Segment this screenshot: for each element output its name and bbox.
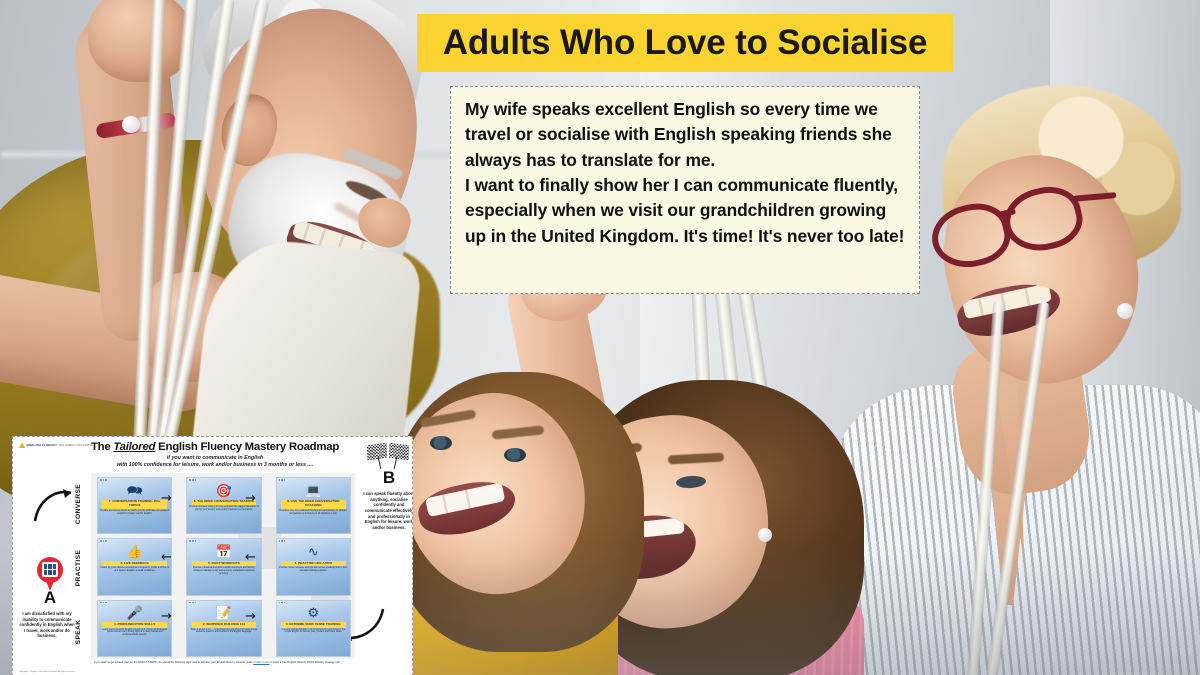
card-note: Real time, live 1-to-1 tailored developm… [278, 510, 348, 516]
roadmap-card[interactable]: 👍 6. LIVE FEEDBACK Instant pin-point div… [97, 538, 172, 595]
roadmap-title-prefix: The [91, 441, 113, 453]
roadmap-card[interactable]: 📅 5. DAILY WORKOUTS Practise, rehearsal … [186, 538, 261, 595]
card-note: Precision focused training to hone and t… [189, 506, 259, 512]
curved-arrow-up-icon [31, 481, 79, 525]
window-dots-icon [189, 602, 196, 604]
flow-arrow-left-icon: ← [161, 551, 172, 564]
roadmap-copyright: Copyright © English Professional Limited… [19, 671, 75, 673]
card-note: Practise music, rehearse and tips that c… [278, 567, 348, 573]
roadmap-card[interactable]: 💻 9. LIVE TAILORED CONVERSATION COACHING… [276, 477, 351, 534]
stage-label-practise: PRACTISE [75, 537, 82, 599]
card-note: Instant pin-point diverse development on… [99, 567, 169, 573]
start-marker-letter: A [32, 589, 68, 606]
footer-text-post: to book a free English Fluency 100% Mast… [270, 661, 341, 664]
flow-arrow-left-icon: ← [245, 551, 256, 564]
roadmap-subtitle-2: with 100% confidence for leisure, work a… [69, 462, 361, 468]
start-location-pin-icon [37, 557, 63, 591]
title-banner: Adults Who Love to Socialise [417, 14, 953, 72]
slide-canvas: Adults Who Love to Socialise My wife spe… [0, 0, 1200, 675]
glasses-lens-right [998, 180, 1088, 258]
girl-earring [758, 528, 772, 542]
flow-arrow-right-icon: → [161, 492, 172, 505]
roadmap-title-emphasis: Tailored [113, 441, 155, 453]
flow-arrow-right-icon: → [161, 610, 172, 623]
flag-pole [378, 457, 381, 469]
microphone-icon: 🎤 [126, 604, 144, 621]
stage-label-speak: SPEAK [75, 601, 82, 663]
roadmap-subtitle-1: if you want to communicate in English [79, 455, 351, 461]
card-title: 3. EXTREME VERB TENSE TRAINING [281, 622, 346, 627]
conversation-training-icon: 🗪 [126, 482, 144, 499]
target-icon: 🎯 [215, 482, 233, 499]
document-pen-icon: 📝 [215, 604, 233, 621]
card-note: Practise, rehearsal and drills to build … [189, 567, 259, 576]
roadmap-footer: If you want to get a head start on the E… [83, 661, 351, 665]
window-dots-icon [100, 479, 107, 481]
logo-brand: ENGLISH FLUENCY [27, 443, 58, 447]
story-textbox: My wife speaks excellent English so ever… [450, 86, 920, 294]
logo-mark-icon [19, 442, 25, 448]
card-note: Make it sound a set — understand and org… [189, 629, 259, 635]
checkered-flags-icon [365, 443, 413, 471]
card-title: 1. PRONUNCIATION SKILLS [102, 622, 167, 627]
window-dots-icon [100, 540, 107, 542]
roadmap-path-icon: ∿ [304, 543, 322, 560]
live-coaching-icon: 💻 [304, 482, 322, 499]
card-note: Flexible and diverse topics to match you… [99, 510, 169, 516]
calendar-icon: 📅 [215, 543, 233, 560]
roadmap-title-suffix: English Fluency Mastery Roadmap [155, 441, 339, 453]
card-title: 6. LIVE FEEDBACK [102, 561, 167, 566]
end-marker-letter: B [365, 469, 413, 486]
window-dots-icon [189, 479, 196, 481]
card-title: 4. PRACTISE LIKE A PRO [281, 561, 346, 566]
thumbs-up-icon: 👍 [126, 543, 144, 560]
card-note: Learn how to produce English sounds and … [99, 629, 169, 638]
gears-icon: ⚙ [304, 604, 322, 621]
roadmap-infographic: ENGLISH FLUENCY TAILORED COACHING The Ta… [12, 436, 413, 675]
glasses-lens-left [926, 197, 1016, 275]
story-text: My wife speaks excellent English so ever… [465, 97, 905, 249]
card-title: 7. CONVERSATION TRAINING 200+ TOPICS [102, 500, 167, 509]
window-dots-icon [279, 479, 286, 481]
page-title: Adults Who Love to Socialise [443, 23, 927, 63]
footer-link[interactable]: Private Guide [253, 661, 269, 664]
girl-eye [430, 436, 452, 450]
footer-text-pre: If you want to get a head start on the E… [94, 661, 253, 664]
window-dots-icon [189, 540, 196, 542]
card-note: Use and practise English in all 12 tense… [278, 629, 348, 635]
checkered-flag [389, 443, 409, 461]
card-title: 9. LIVE TAILORED CONVERSATION COACHING [281, 500, 346, 509]
girl-eye [504, 448, 526, 462]
window-dots-icon [100, 602, 107, 604]
roadmap-card[interactable]: ⚙ 3. EXTREME VERB TENSE TRAINING Use and… [276, 600, 351, 657]
flow-arrow-right-icon: → [245, 610, 256, 623]
flow-arrow-right-icon: → [245, 492, 256, 505]
pin-grid-glyph [42, 562, 58, 577]
roadmap-card-grid: 🗪 7. CONVERSATION TRAINING 200+ TOPICS F… [97, 477, 351, 657]
start-marker-description: I am dissatisfied with my inability to c… [19, 611, 75, 639]
window-dots-icon [279, 540, 286, 542]
window-dots-icon [279, 602, 286, 604]
end-marker-description: I can speak fluently about anything, soc… [361, 491, 413, 530]
roadmap-title: The Tailored English Fluency Mastery Roa… [79, 441, 351, 453]
roadmap-card[interactable]: ∿ 4. PRACTISE LIKE A PRO Practise music,… [276, 538, 351, 595]
